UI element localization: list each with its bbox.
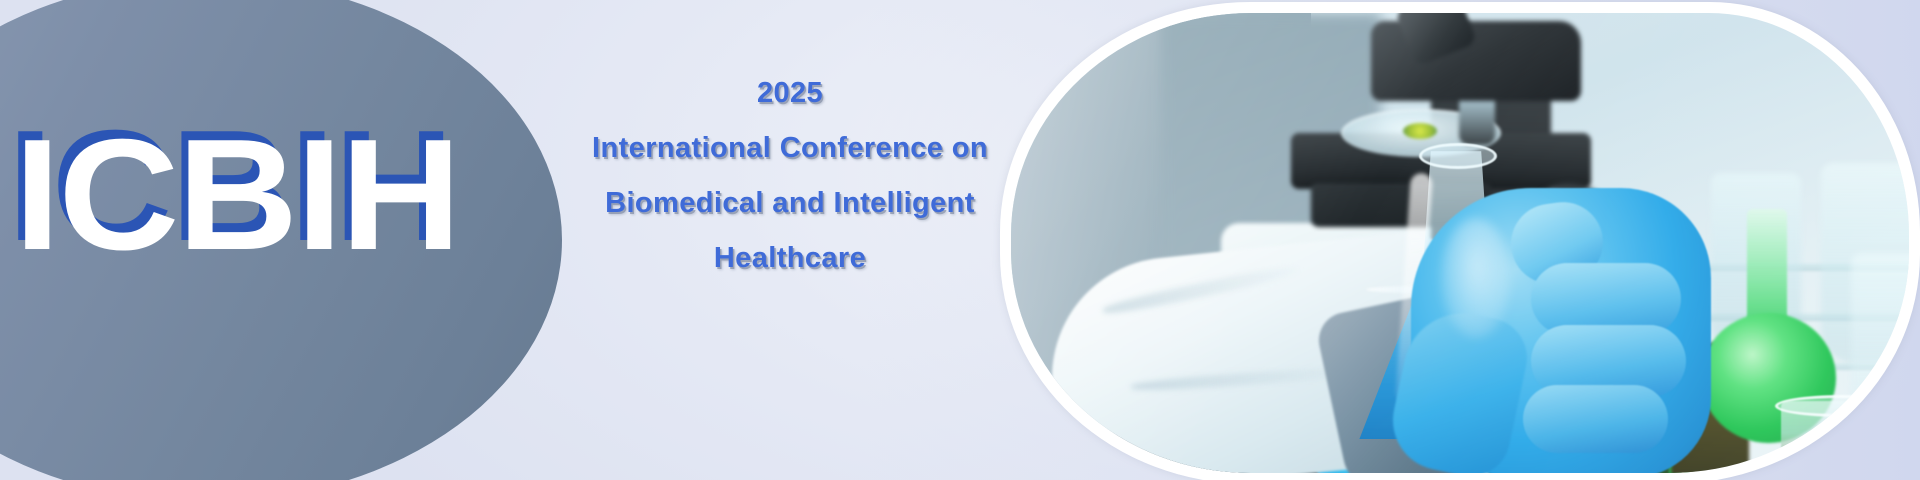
laboratory-photo-frame	[1000, 2, 1920, 480]
conference-logo: ICBIH ICBIH	[0, 0, 580, 480]
conference-title-line-2: Biomedical and Intelligent	[560, 176, 1020, 231]
conference-title-line-3: Healthcare	[560, 231, 1020, 286]
logo-wordmark: ICBIH ICBIH	[14, 120, 574, 270]
photo-sheen-overlay	[1011, 13, 1909, 473]
conference-title-block: 2025 International Conference on Biomedi…	[560, 66, 1020, 286]
logo-wordmark-front-layer: ICBIH	[14, 120, 459, 270]
conference-banner: ICBIH ICBIH 2025 International Conferenc…	[0, 0, 1920, 480]
laboratory-photo	[1011, 13, 1909, 473]
conference-title-line-1: International Conference on	[560, 121, 1020, 176]
conference-year: 2025	[560, 66, 1020, 121]
